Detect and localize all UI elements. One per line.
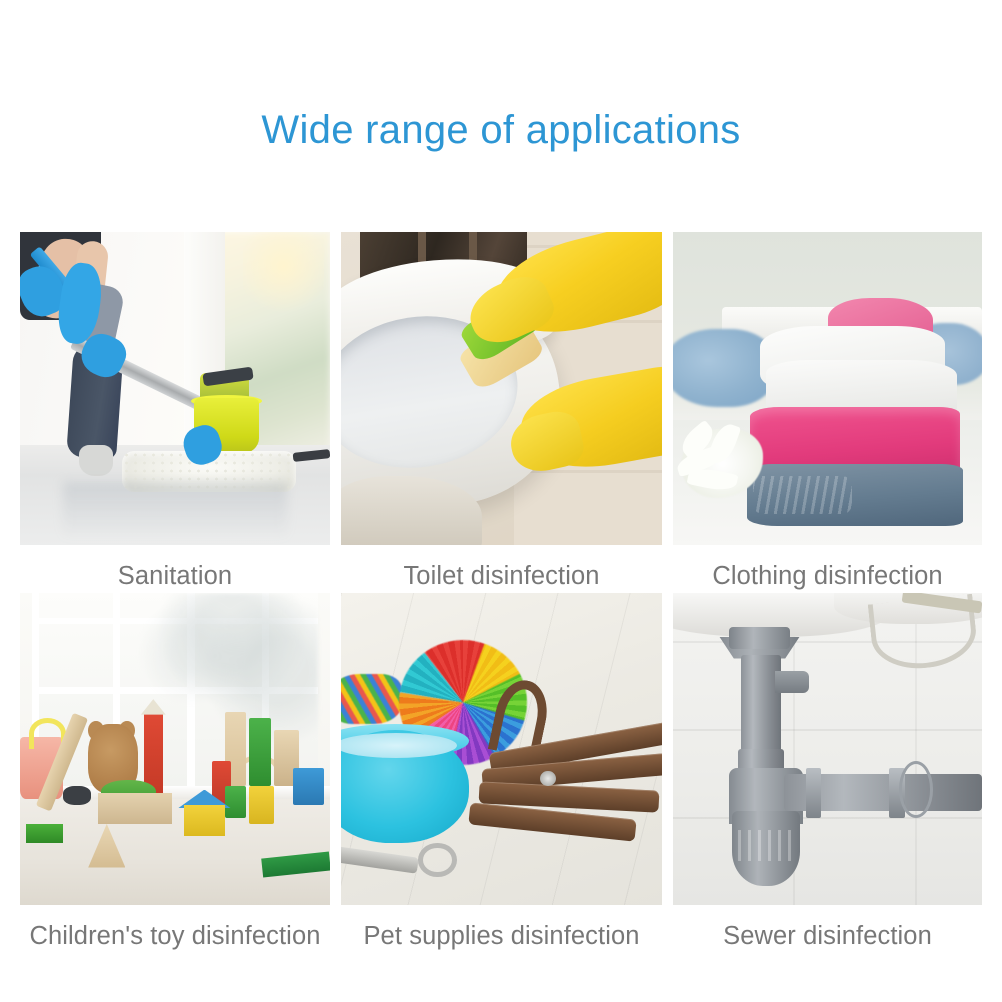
caption-sanitation: Sanitation [20,545,330,593]
application-card-sanitation[interactable]: Sanitation [20,232,330,593]
application-card-toilet-disinfection[interactable]: Toilet disinfection [341,232,662,593]
caption-sewer-disinfection: Sewer disinfection [673,905,982,963]
caption-toilet-disinfection: Toilet disinfection [341,545,662,593]
caption-childrens-toy-disinfection: Children's toy disinfection [20,905,330,963]
application-card-sewer-disinfection[interactable]: Sewer disinfection [673,593,982,963]
caption-pet-supplies-disinfection: Pet supplies disinfection [341,905,662,963]
sewer-disinfection-image [673,593,982,905]
pet-supplies-disinfection-image [341,593,662,905]
application-card-pet-supplies-disinfection[interactable]: Pet supplies disinfection [341,593,662,963]
childrens-toy-disinfection-image [20,593,330,905]
applications-page: Wide range of applications [0,0,1002,1002]
applications-grid: Sanitation [20,232,972,963]
application-card-childrens-toy-disinfection[interactable]: Children's toy disinfection [20,593,330,963]
clothing-disinfection-image [673,232,982,545]
toilet-disinfection-image [341,232,662,545]
sanitation-image [20,232,330,545]
caption-clothing-disinfection: Clothing disinfection [673,545,982,593]
page-title: Wide range of applications [0,108,1002,153]
application-card-clothing-disinfection[interactable]: Clothing disinfection [673,232,982,593]
